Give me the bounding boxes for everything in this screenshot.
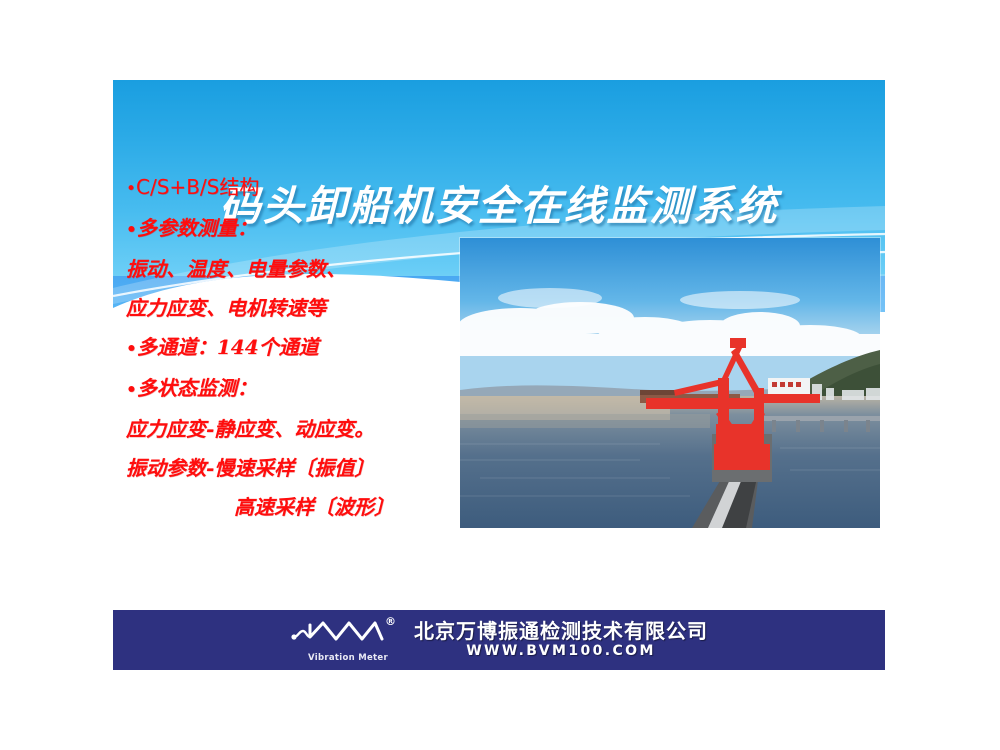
list-item-label: 高速采样〔波形〕 xyxy=(234,495,394,519)
list-item-label: 振动、温度、电量参数、 xyxy=(126,257,346,281)
list-item-label: 多参数测量： xyxy=(137,216,257,240)
list-item: 高速采样〔波形〕 xyxy=(126,488,486,527)
list-item: 应力应变-静应变、动应变。 xyxy=(126,410,486,449)
list-item: •多参数测量： xyxy=(126,209,486,250)
vibration-wave-icon xyxy=(290,617,400,651)
company-logo: ® Vibration Meter xyxy=(290,617,400,663)
crane-photo xyxy=(460,238,880,528)
list-item: 应力应变、电机转速等 xyxy=(126,289,486,328)
list-item-label: 应力应变、电机转速等 xyxy=(126,296,326,320)
list-item: 振动参数-慢速采样〔振值〕 xyxy=(126,449,486,488)
list-item-label: 多状态监测： xyxy=(137,376,257,400)
list-item: •C/S+B/S结构 xyxy=(126,168,486,209)
company-name: 北京万博振通检测技术有限公司 xyxy=(414,621,708,642)
list-item-label: 振动参数-慢速采样〔振值〕 xyxy=(126,456,374,480)
bullet-glyph: • xyxy=(126,220,137,240)
footer-text: 北京万博振通检测技术有限公司 WWW.BVM100.COM xyxy=(414,621,708,659)
list-item: •多状态监测： xyxy=(126,369,486,410)
list-item: •多通道：144个通道 xyxy=(126,328,486,369)
bullet-glyph: • xyxy=(126,380,137,400)
list-item-label: C/S+B/S结构 xyxy=(136,175,259,199)
footer-bar: ® Vibration Meter 北京万博振通检测技术有限公司 WWW.BVM… xyxy=(113,610,885,670)
logo-caption: Vibration Meter xyxy=(296,653,400,663)
registered-trademark-icon: ® xyxy=(385,615,396,628)
list-item-label: 应力应变-静应变、动应变。 xyxy=(126,417,374,441)
list-item: 振动、温度、电量参数、 xyxy=(126,250,486,289)
bullet-glyph: • xyxy=(126,179,136,199)
company-website: WWW.BVM100.COM xyxy=(414,644,708,659)
bullet-glyph: • xyxy=(126,339,137,359)
presentation-slide: 码头卸船机安全在线监测系统 xyxy=(113,80,885,670)
list-item-label: 多通道：144个通道 xyxy=(137,335,319,359)
bullet-list: •C/S+B/S结构 •多参数测量： 振动、温度、电量参数、 应力应变、电机转速… xyxy=(126,168,486,527)
